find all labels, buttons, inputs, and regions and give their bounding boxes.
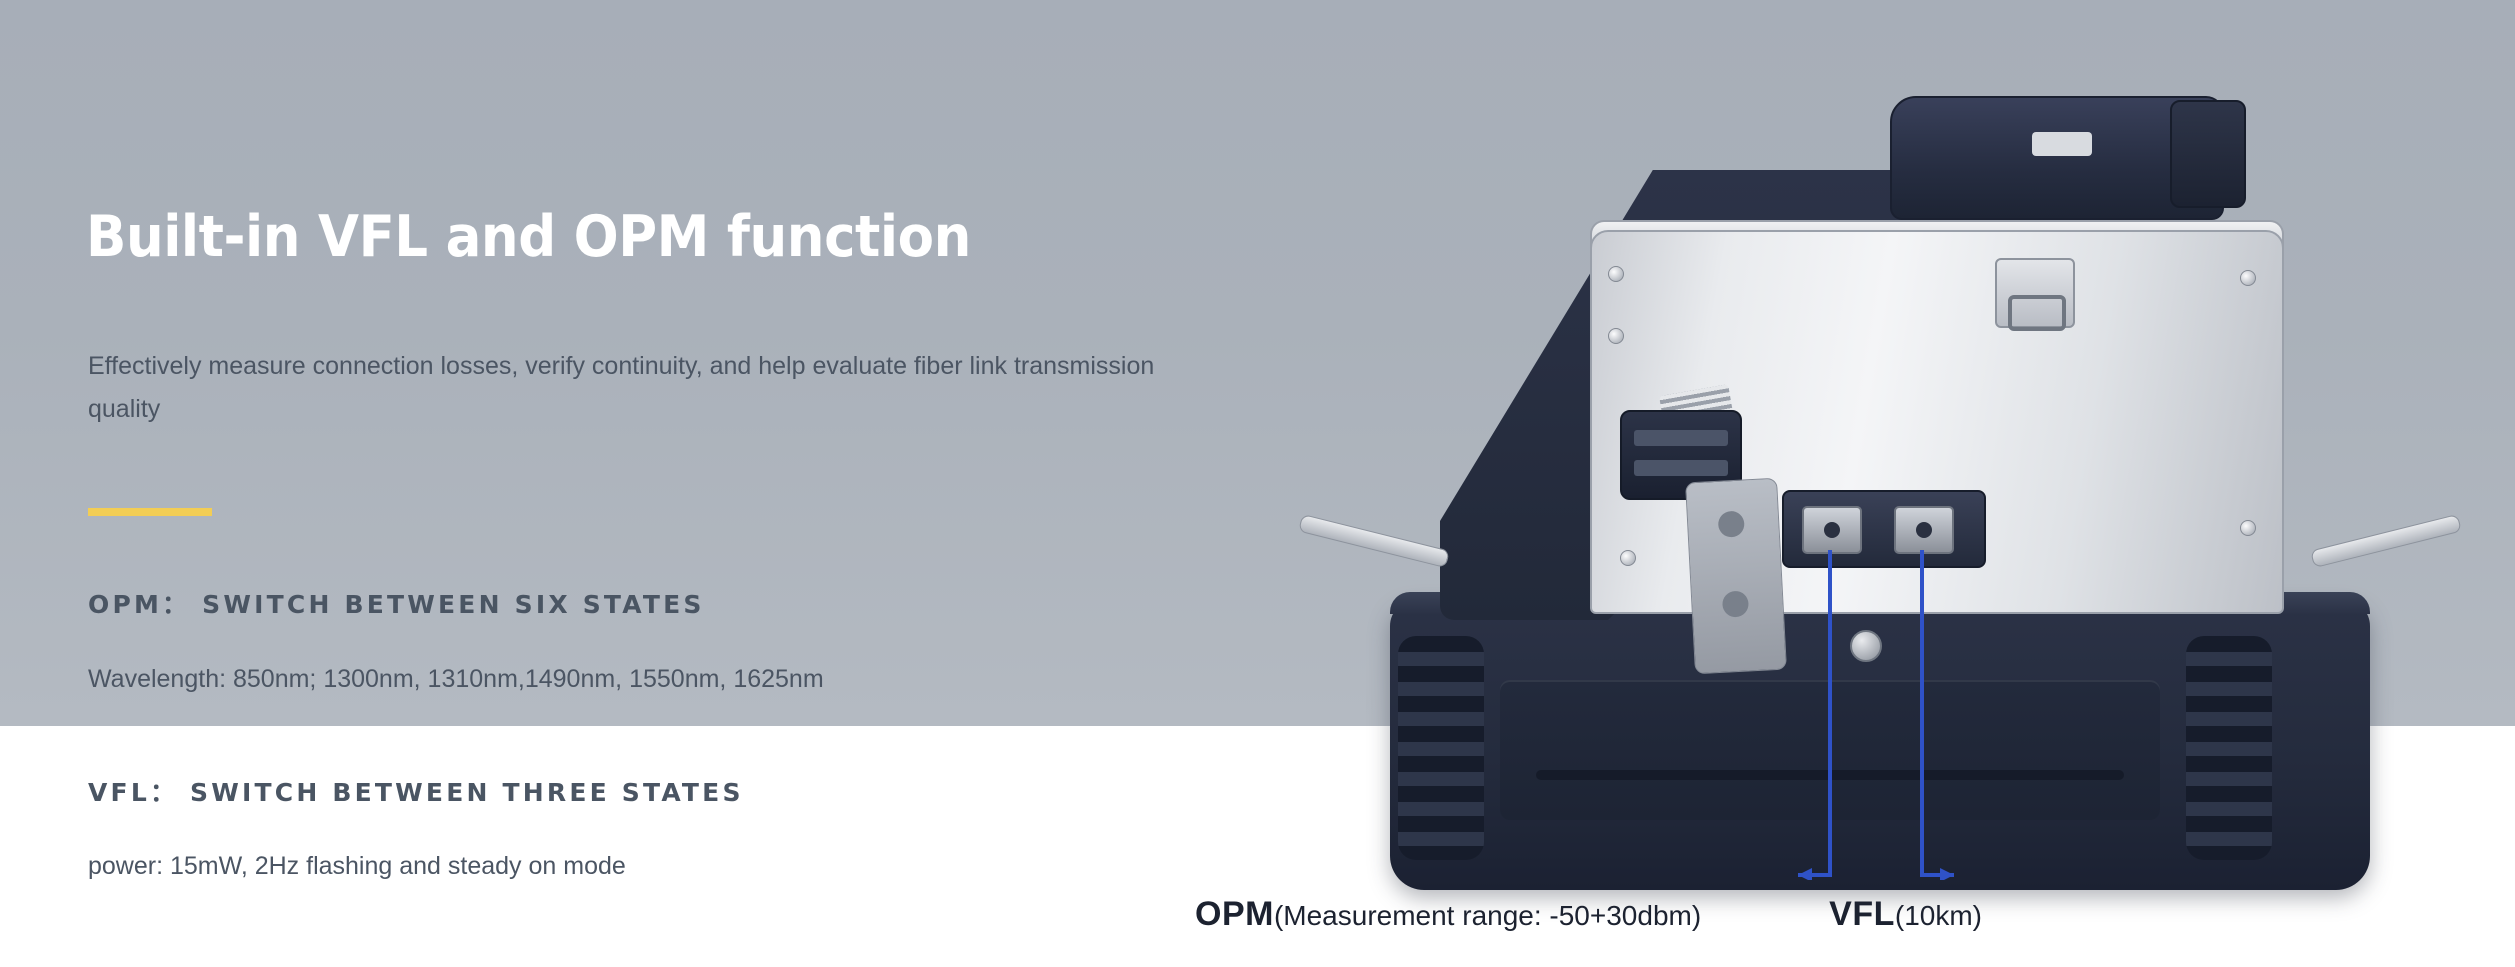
section-body-vfl: power: 15mW, 2Hz flashing and steady on … (88, 852, 626, 881)
device-screw (1608, 266, 1624, 282)
cover-dot (1718, 511, 1745, 538)
device-knob (1850, 630, 1882, 662)
device-screw (2240, 270, 2256, 286)
device-front-panel (1500, 680, 2160, 820)
vfl-port (1894, 506, 1954, 554)
promo-banner: Built-in VFL and OPM function Effectivel… (0, 0, 2515, 967)
device-panel-slot (1536, 770, 2124, 780)
device-holder-arm-right (2310, 514, 2462, 568)
clamp-bar (1634, 460, 1728, 476)
opm-callout-detail: (Measurement range: -50+30dbm) (1274, 900, 1701, 931)
page-title: Built-in VFL and OPM function (86, 205, 971, 271)
section-title-opm: OPM： SWITCH BETWEEN SIX STATES (88, 585, 705, 621)
callout-labels: OPM(Measurement range: -50+30dbm)VFL(10k… (1195, 895, 2195, 934)
port-hole (1824, 522, 1840, 538)
product-image (1290, 80, 2470, 880)
vfl-callout-label: VFL (1829, 895, 1895, 933)
vfl-callout-detail: (10km) (1895, 900, 1982, 931)
device-grip-right (2186, 636, 2272, 860)
device-side-cover (1685, 478, 1787, 675)
device-holder-arm-left (1298, 514, 1450, 568)
device-latch-inner (2008, 295, 2066, 331)
device-screw (2240, 520, 2256, 536)
device-hood-tab (2032, 132, 2092, 156)
opm-callout-label: OPM (1195, 895, 1274, 933)
device-hood-hinge (2170, 100, 2246, 208)
port-hole (1916, 522, 1932, 538)
clamp-bar (1634, 430, 1728, 446)
device-screw (1608, 328, 1624, 344)
device-screw (1620, 550, 1636, 566)
accent-divider (88, 508, 212, 516)
device-grip-left (1398, 636, 1484, 860)
cover-dot (1722, 590, 1749, 617)
opm-port (1802, 506, 1862, 554)
section-title-vfl: VFL： SWITCH BETWEEN THREE STATES (88, 773, 744, 809)
section-body-opm: Wavelength: 850nm; 1300nm, 1310nm,1490nm… (88, 665, 824, 694)
page-subtitle: Effectively measure connection losses, v… (88, 345, 1178, 431)
